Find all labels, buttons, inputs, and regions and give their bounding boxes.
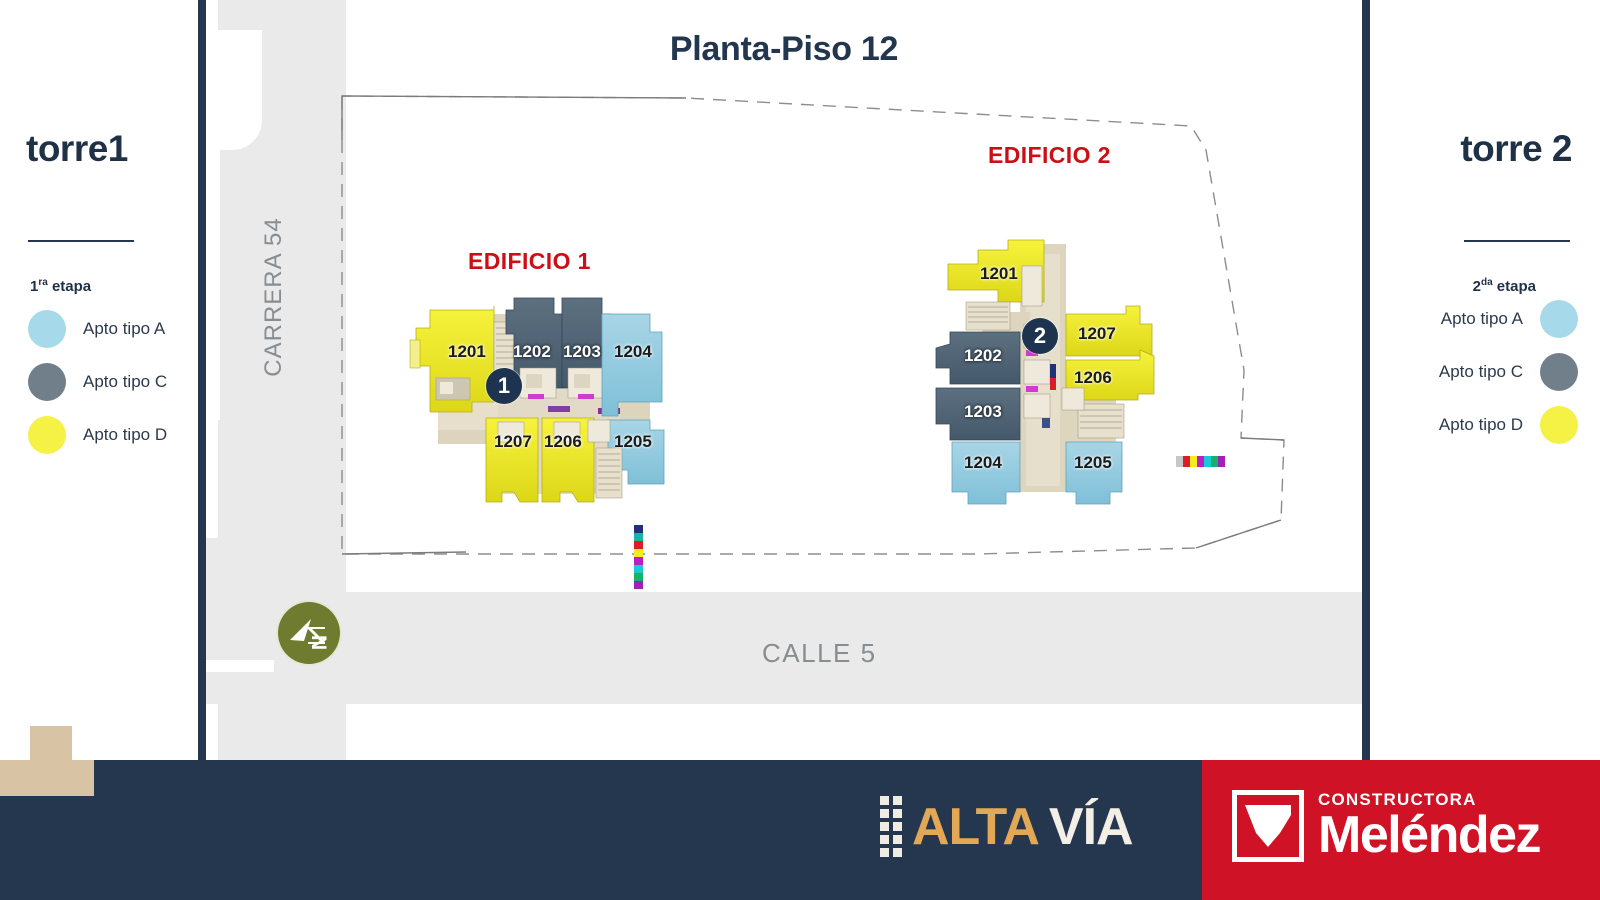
edificio-2-plan[interactable]: 1201 1202 1203 1204 1205 1206 1207 2 bbox=[926, 228, 1166, 508]
edificio-2-badge[interactable]: 2 bbox=[1022, 318, 1058, 354]
unit-label-edificio1-1201: 1201 bbox=[448, 342, 486, 362]
melendez-text-block: CONSTRUCTORA Meléndez bbox=[1318, 791, 1540, 861]
street-label-carrera-54: CARRERA 54 bbox=[260, 197, 288, 397]
unit-label-edificio2-1203: 1203 bbox=[964, 402, 1002, 422]
legend-label-apto-c: Apto tipo C bbox=[83, 372, 167, 392]
unit-label-edificio1-1206: 1206 bbox=[544, 432, 582, 452]
left-etapa-sup: ra bbox=[38, 277, 47, 288]
unit-label-edificio2-1201: 1201 bbox=[980, 264, 1018, 284]
right-divider bbox=[1464, 240, 1570, 242]
legend-label-apto-c-right: Apto tipo C bbox=[1439, 362, 1523, 382]
left-vertical-rule bbox=[198, 0, 206, 760]
circle-swatch-icon-a-right bbox=[1540, 300, 1578, 338]
legend-label-apto-d-right: Apto tipo D bbox=[1439, 415, 1523, 435]
legend-item-apto-a[interactable]: Apto tipo A bbox=[28, 310, 167, 348]
street-label-calle-5: CALLE 5 bbox=[762, 638, 877, 669]
melendez-logo: CONSTRUCTORA Meléndez bbox=[1232, 790, 1540, 862]
street-corner-fillet bbox=[206, 538, 306, 594]
unit-label-edificio2-1205: 1205 bbox=[1074, 453, 1112, 473]
color-dash-marker-horizontal bbox=[1176, 456, 1225, 467]
legend-item-apto-c-right[interactable]: Apto tipo C bbox=[1439, 353, 1578, 391]
circle-swatch-icon-d-right bbox=[1540, 406, 1578, 444]
right-sidebar-torre2: torre 2 2da etapa Apto tipo A Apto tipo … bbox=[1368, 0, 1600, 760]
altavia-via-text: VÍA bbox=[1049, 797, 1133, 857]
left-sidebar-torre1: torre1 1ra etapa Apto tipo A Apto tipo C… bbox=[0, 0, 200, 760]
unit-label-edificio2-1206: 1206 bbox=[1074, 368, 1112, 388]
legend-item-apto-d-right[interactable]: Apto tipo D bbox=[1439, 406, 1578, 444]
legend-label-apto-d: Apto tipo D bbox=[83, 425, 167, 445]
altavia-dots-icon bbox=[880, 796, 902, 857]
legend-item-apto-c[interactable]: Apto tipo C bbox=[28, 363, 167, 401]
unit-label-edificio2-1204: 1204 bbox=[964, 453, 1002, 473]
right-legend: Apto tipo A Apto tipo C Apto tipo D bbox=[1439, 300, 1578, 444]
svg-text:N: N bbox=[307, 635, 330, 650]
torre1-title: torre1 bbox=[26, 128, 128, 170]
edificio-1-plan[interactable]: 1201 1202 1203 1204 1205 1206 1207 1 bbox=[402, 270, 692, 510]
circle-swatch-icon-d bbox=[28, 416, 66, 454]
street-side-stub bbox=[218, 430, 346, 484]
footer-bar: ALTA VÍA CONSTRUCTORA Meléndez bbox=[0, 760, 1600, 900]
altavia-alta-text: ALTA bbox=[912, 797, 1039, 857]
circle-swatch-icon-c bbox=[28, 363, 66, 401]
circle-swatch-icon-a bbox=[28, 310, 66, 348]
right-etapa-number: 2 bbox=[1473, 278, 1481, 295]
unit-label-edificio1-1202: 1202 bbox=[513, 342, 551, 362]
right-etapa-word: etapa bbox=[1493, 278, 1536, 295]
circle-swatch-icon-c-right bbox=[1540, 353, 1578, 391]
page-title: Planta-Piso 12 bbox=[206, 30, 1362, 69]
unit-label-edificio1-1205: 1205 bbox=[614, 432, 652, 452]
color-dash-marker-vertical bbox=[634, 525, 643, 589]
site-map: Planta-Piso 12 N EDIFICIO 1 bbox=[206, 0, 1362, 760]
unit-label-edificio1-1203: 1203 bbox=[563, 342, 601, 362]
legend-item-apto-a-right[interactable]: Apto tipo A bbox=[1441, 300, 1578, 338]
left-divider bbox=[28, 240, 134, 242]
legend-item-apto-d[interactable]: Apto tipo D bbox=[28, 416, 167, 454]
unit-label-edificio2-1202: 1202 bbox=[964, 346, 1002, 366]
edificio-1-badge[interactable]: 1 bbox=[486, 368, 522, 404]
altavia-logo: ALTA VÍA bbox=[880, 796, 1133, 857]
melendez-m-mark-icon bbox=[1232, 790, 1304, 862]
unit-label-edificio1-1207: 1207 bbox=[494, 432, 532, 452]
left-etapa-word: etapa bbox=[48, 278, 91, 295]
corner-block-3 bbox=[62, 760, 94, 796]
street-edge-mark bbox=[206, 120, 220, 420]
edificio-2-title: EDIFICIO 2 bbox=[988, 142, 1111, 169]
unit-label-edificio1-1204: 1204 bbox=[614, 342, 652, 362]
right-etapa-sup: da bbox=[1481, 277, 1493, 288]
unit-label-edificio2-1207: 1207 bbox=[1078, 324, 1116, 344]
right-vertical-rule bbox=[1362, 0, 1370, 760]
melendez-name-text: Meléndez bbox=[1318, 809, 1540, 861]
left-legend: Apto tipo A Apto tipo C Apto tipo D bbox=[28, 310, 167, 454]
torre2-title: torre 2 bbox=[1460, 128, 1572, 170]
street-divider-mark bbox=[206, 660, 274, 672]
left-etapa-label: 1ra etapa bbox=[30, 277, 91, 295]
right-etapa-label: 2da etapa bbox=[1473, 277, 1536, 295]
floorplan-poster: Planta-Piso 12 N EDIFICIO 1 bbox=[0, 0, 1600, 900]
legend-label-apto-a: Apto tipo A bbox=[83, 319, 165, 339]
compass-north-icon: N bbox=[278, 602, 340, 664]
legend-label-apto-a-right: Apto tipo A bbox=[1441, 309, 1523, 329]
